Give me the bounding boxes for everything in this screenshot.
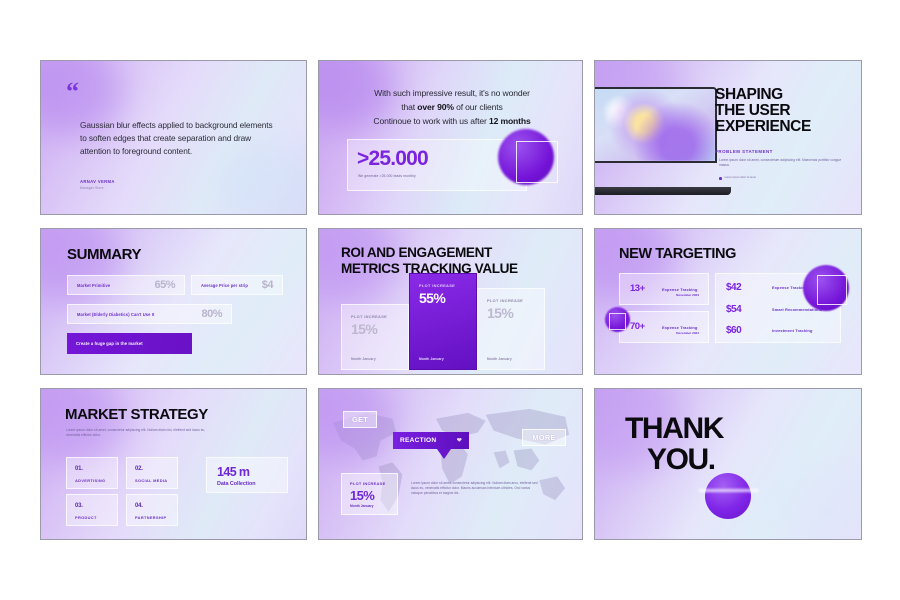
summary-row-0[interactable]: Market Primitive 65% [67,275,185,295]
strategy-item-0[interactable]: 01. ADVERTISING [66,457,118,489]
slide-deck-grid: “ Gaussian blur effects applied to backg… [0,0,900,600]
metric-value: 15% [350,488,374,503]
headline-line-1: With such impressive result, it's no won… [374,88,530,98]
price-row-2: $60 Investment Tracking [726,325,812,336]
price-value: $60 [726,325,758,336]
map-pin-label: REACTION [400,437,436,444]
metric-month: Month January [487,357,512,361]
strategy-item-label: PRODUCT [75,515,97,520]
metric-month: Month January [351,357,376,361]
headline-emphasis-90: over 90% [417,102,454,112]
price-value: $54 [726,304,758,315]
price-label: Investment Tracking [772,328,812,333]
headline-emphasis-months: 12 months [489,116,531,126]
bullet-dot-icon [719,177,722,180]
laptop-screen [594,87,717,163]
intro-paragraph: Lorem ipsum dolor sit amet, consectetur … [66,428,206,438]
headline-line-2c: of our clients [454,102,503,112]
cta-button-label: Create a huge gap in the market [76,341,143,346]
summary-row-label: Market Primitive [77,283,110,288]
summary-row-value: $4 [262,279,273,291]
stat-caption: We generate >25.000 leads monthly [358,174,416,178]
map-paragraph: Lorem ipsum dolor sit amet, consectetur … [411,481,541,496]
price-row-0: $42 Expense Tracking [726,282,808,293]
strategy-item-label: SOCIAL MEDIA [135,478,167,483]
data-collection-value: 145 m [217,465,249,479]
price-row-1: $54 Smart Recommendations [726,304,822,315]
summary-row-label: Market (Elderly Diabetics) Can't Use It [77,312,154,317]
metric-kicker: PLOT INCREASE [350,481,385,486]
map-pin-reaction[interactable]: REACTION ❤ [393,432,469,449]
quote-author-role: Manager Store [80,186,104,190]
slide-thumbnail-market-strategy[interactable]: MARKET STRATEGY Lorem ipsum dolor sit am… [40,388,307,540]
bullet-text: Lorem ipsum dolor sit amet [725,176,756,180]
metric-bar-1[interactable]: PLOT INCREASE 55% Month January [409,273,477,370]
data-collection-card[interactable]: 145 m Data Collection [206,457,288,493]
slide-thumbnail-new-targeting[interactable]: NEW TARGETING 13+ Expense Tracking Novem… [594,228,862,375]
metric-month: Month January [350,504,373,508]
slide-thumbnail-shaping-experience[interactable]: SHAPING THE USER EXPERIENCE PROBLEM STAT… [594,60,862,215]
summary-row-label: Average Price per strip [201,283,248,288]
quote-mark-icon: “ [66,83,78,101]
strategy-item-number: 03. [75,503,83,509]
metric-value: 15% [351,321,377,337]
strategy-item-1[interactable]: 02. SOCIAL MEDIA [126,457,178,489]
strategy-item-label: ADVERTISING [75,478,105,483]
slide-thumbnail-thank-you[interactable]: THANK YOU. [594,388,862,540]
decorative-square-outline [817,275,847,305]
laptop-base [594,187,731,195]
decorative-square-outline [516,141,558,183]
summary-row-value: 80% [201,308,222,320]
decorative-light-band [699,489,759,492]
slide-thumbnail-summary[interactable]: SUMMARY Market Primitive 65% Average Pri… [40,228,307,375]
bullet-item: Lorem ipsum dolor sit amet [719,176,847,180]
targeting-card-date: December 2024 [676,331,699,335]
thank-you-line-2: YOU. [647,445,715,476]
strategy-item-number: 04. [135,503,143,509]
metric-kicker: PLOT INCREASE [419,283,455,288]
strategy-item-number: 01. [75,466,83,472]
metric-value: 15% [487,305,513,321]
targeting-card-0[interactable]: 13+ Expense Tracking November 2024 [619,273,709,305]
strategy-item-number: 02. [135,466,143,472]
targeting-card-1[interactable]: 70+ Expense Tracking December 2024 [619,311,709,343]
heart-icon: ❤ [457,437,462,444]
quote-author-name: ARNAV VERMA [80,179,115,184]
laptop-mockup [594,87,727,173]
slide-thumbnail-impressive-result[interactable]: With such impressive result, it's no won… [318,60,583,215]
headline-line-2a: that [401,102,417,112]
summary-row-value: 65% [154,279,175,291]
decorative-sphere [705,473,751,519]
strategy-item-3[interactable]: 04. PARTNERSHIP [126,494,178,526]
section-paragraph: Lorem ipsum dolor sit amet, consectetuer… [719,158,847,168]
slide-thumbnail-map-reaction[interactable]: GET MORE REACTION ❤ PLOT INCREASE 15% Mo… [318,388,583,540]
targeting-card-value: 13+ [630,283,645,294]
page-title: MARKET STRATEGY [65,407,208,422]
page-title: SUMMARY [67,247,141,262]
decorative-square-outline [609,313,626,330]
tag-get-label: GET [352,415,368,424]
targeting-card-label: Expense Tracking [662,325,698,330]
metric-kicker: PLOT INCREASE [351,314,387,319]
price-value: $42 [726,282,758,293]
tag-get[interactable]: GET [343,411,377,428]
metric-value: 55% [419,290,445,306]
page-title: SHAPING THE USER EXPERIENCE [715,87,847,134]
summary-row-2[interactable]: Market (Elderly Diabetics) Can't Use It … [67,304,232,324]
tag-more[interactable]: MORE [522,429,566,446]
page-title: NEW TARGETING [619,247,736,262]
title-line-1: SHAPING [715,87,847,103]
targeting-card-date: November 2024 [676,293,699,297]
targeting-card-label: Expense Tracking [662,287,698,292]
metric-bar-2[interactable]: PLOT INCREASE 15% Month January [477,288,545,370]
strategy-item-2[interactable]: 03. PRODUCT [66,494,118,526]
title-line-3: EXPERIENCE [715,119,847,135]
quote-body-text: Gaussian blur effects applied to backgro… [80,119,280,158]
data-collection-label: Data Collection [217,481,256,487]
slide-thumbnail-roi-engagement[interactable]: ROI AND ENGAGEMENT METRICS TRACKING VALU… [318,228,583,375]
thank-you-line-1: THANK [625,414,723,445]
abstract-gradient-artwork [594,89,715,161]
metric-month: Month January [419,357,444,361]
title-line-2: THE USER [715,103,847,119]
metric-bar-0[interactable]: PLOT INCREASE 15% Month January [341,304,409,370]
stat-value: >25.000 [357,147,428,171]
targeting-card-value: 70+ [630,321,645,332]
summary-row-1[interactable]: Average Price per strip $4 [191,275,283,295]
strategy-item-label: PARTNERSHIP [135,515,166,520]
tag-more-label: MORE [532,433,555,442]
section-kicker: PROBLEM STATEMENT [715,149,847,154]
headline-text: With such impressive result, it's no won… [337,87,567,129]
metric-card[interactable]: PLOT INCREASE 15% Month January [341,473,398,515]
metric-kicker: PLOT INCREASE [487,298,523,303]
title-line-1: ROI AND ENGAGEMENT [341,245,518,261]
slide-thumbnail-quote[interactable]: “ Gaussian blur effects applied to backg… [40,60,307,215]
headline-line-3a: Continoue to work with us after [373,116,489,126]
cta-button[interactable]: Create a huge gap in the market [67,333,192,354]
